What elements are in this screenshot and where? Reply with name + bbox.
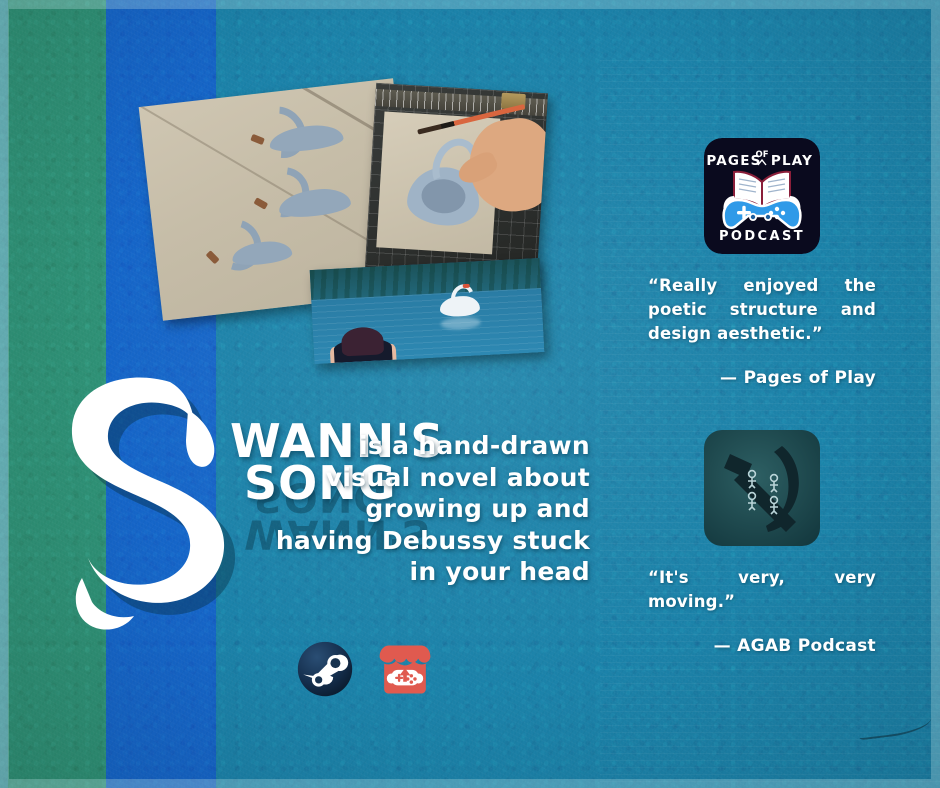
itch-io-icon[interactable] — [376, 640, 434, 698]
quote-attribution: — Pages of Play — [648, 368, 876, 388]
logo-text-of: OF — [755, 150, 768, 160]
quote-text: “Really enjoyed the poetic structure and… — [648, 274, 876, 346]
logo-text-pages: PAGES — [706, 153, 761, 169]
logo-text-play: PLAY — [771, 153, 813, 169]
store-links — [296, 640, 434, 698]
pages-of-play-podcast-logo-icon: PAGES OF PLAY PODCAST — [704, 138, 820, 254]
quote-text: “It's very, very moving.” — [648, 566, 876, 614]
game-description: is a hand-drawn visual novel about growi… — [272, 430, 590, 588]
character-hair — [341, 326, 384, 356]
review-quote-pages-of-play: PAGES OF PLAY PODCAST “R — [648, 138, 876, 388]
scene-swan-beak — [463, 284, 470, 288]
agab-podcast-logo-icon — [704, 430, 820, 546]
poster-canvas: WANN'S SONG WANN'S SONG is a hand-drawn … — [0, 0, 940, 788]
swan-letter-s-icon — [58, 360, 248, 650]
logo-text-podcast: PODCAST — [719, 229, 805, 244]
review-quote-agab-podcast: “It's very, very moving.” — AGAB Podcast — [648, 430, 876, 656]
game-scene-screenshot — [310, 258, 545, 364]
quote-attribution: — AGAB Podcast — [648, 636, 876, 656]
steam-icon[interactable] — [296, 640, 354, 698]
